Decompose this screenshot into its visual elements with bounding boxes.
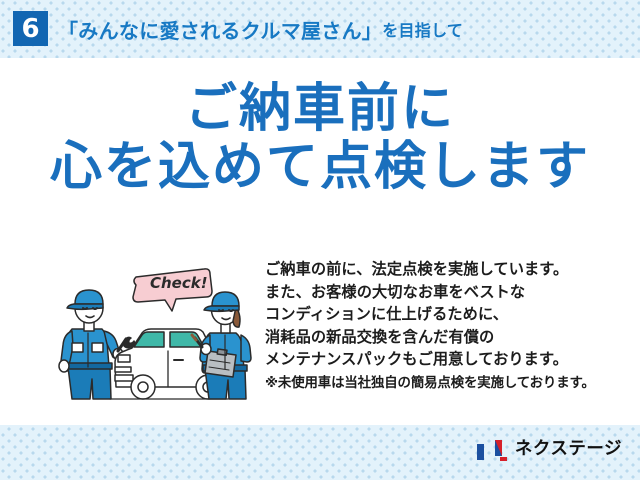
page-title: ご納車前に 心を込めて点検します: [0, 80, 640, 196]
check-bubble-text: Check!: [150, 274, 208, 292]
advertisement-banner: 6 「みんなに愛されるクルマ屋さん」を目指して ご納車前に 心を込めて点検します: [0, 0, 640, 480]
page-title-line-1: ご納車前に: [0, 80, 640, 138]
body-copy-line: 消耗品の新品交換を含んだ有償の: [265, 326, 635, 349]
page-title-line-2: 心を込めて点検します: [0, 138, 640, 196]
body-copy-line: メンテナンスパックもご用意しております。: [265, 348, 635, 371]
header-tagline-tail: を目指して: [382, 17, 463, 41]
nexstage-n-mark-icon: [476, 438, 508, 462]
mechanics-illustration: Check!: [58, 263, 263, 403]
content-panel: ご納車前に 心を込めて点検します: [0, 58, 640, 425]
header-tagline: 「みんなに愛されるクルマ屋さん」を目指して: [58, 12, 463, 46]
header-band: 6 「みんなに愛されるクルマ屋さん」を目指して: [0, 0, 640, 58]
body-copy-line: コンディションに仕上げるために、: [265, 303, 635, 326]
section-number-badge: 6: [13, 11, 48, 46]
header-tagline-quoted: 「みんなに愛されるクルマ屋さん」: [58, 15, 382, 44]
brand-name-label: ネクステージ: [515, 441, 622, 459]
section-number-label: 6: [21, 16, 39, 42]
footer-band: ネクステージ: [0, 425, 640, 480]
brand-logo: ネクステージ: [476, 438, 622, 462]
body-copy: ご納車の前に、法定点検を実施しています。 また、お客様の大切なお車をベストな コ…: [265, 258, 635, 395]
body-copy-line: また、お客様の大切なお車をベストな: [265, 281, 635, 304]
mechanics-illustration-svg: Check!: [58, 263, 263, 403]
body-copy-line: ご納車の前に、法定点検を実施しています。: [265, 258, 635, 281]
body-copy-footnote: ※未使用車は当社独自の簡易点検を実施しております。: [265, 373, 635, 396]
